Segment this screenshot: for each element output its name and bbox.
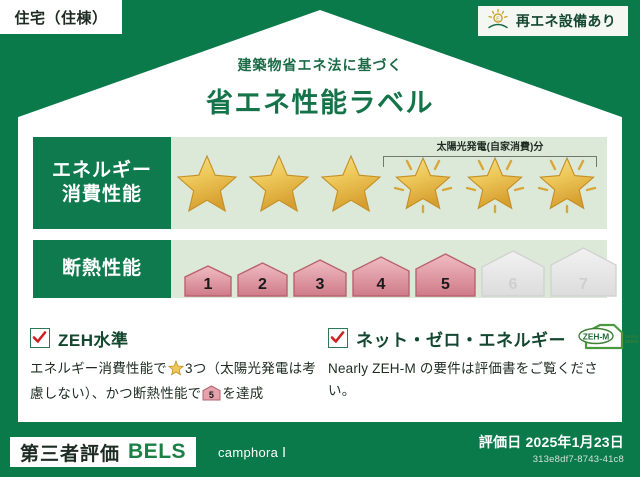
energy-performance-label-box: エネルギー 消費性能	[33, 137, 171, 229]
insulation-grade-2-value: 2	[258, 276, 267, 298]
solar-bracket-annotation: 太陽光発電(自家消費)分	[379, 139, 601, 169]
insulation-grade-6: 6	[480, 249, 546, 298]
svg-text:ZEH-M: ZEH-M	[625, 339, 638, 344]
insulation-grade-2: 2	[236, 261, 289, 298]
insulation-grade-5-value: 5	[441, 276, 450, 298]
insulation-performance-row: 断熱性能 1	[33, 240, 607, 298]
insulation-grade-1: 1	[183, 264, 233, 298]
insulation-label: 断熱性能	[62, 257, 142, 281]
insulation-grade-7-value: 7	[579, 276, 588, 298]
insulation-grade-track: 1 2 3 4	[183, 240, 618, 303]
third-party-evaluation-label: 第三者評価	[20, 439, 120, 466]
energy-label-line1: エネルギー	[52, 159, 152, 183]
housing-type-tab: 住宅（住棟）	[0, 0, 122, 34]
energy-performance-label: 住宅（住棟） E 再エネ設備あり 建築物省エネ法に基づく 省エネ性能ラベル	[0, 0, 640, 477]
insulation-grade-3: 3	[292, 258, 348, 298]
star-item	[243, 137, 315, 229]
net-zero-energy-header: ネット・ゼロ・エネルギー ZEH-M Nearly ZEH-M	[328, 325, 618, 351]
solar-bracket-line	[383, 156, 597, 167]
bels-brand: BELS	[128, 440, 186, 464]
svg-text:ZEH-M: ZEH-M	[583, 331, 610, 341]
zeh-desc-part1: エネルギー消費性能で	[30, 361, 167, 376]
title-main: 省エネ性能ラベル	[0, 81, 640, 120]
building-name: camphora Ⅰ	[218, 445, 286, 461]
insulation-grade-5: 5	[414, 252, 477, 298]
house-grade-5-icon: 5	[202, 385, 221, 408]
title-subtitle: 建築物省エネ法に基づく	[0, 55, 640, 75]
insulation-grade-3-value: 3	[316, 276, 325, 298]
evaluation-id: 313e8df7-8743-41c8	[479, 454, 624, 465]
bels-certification-badge: 第三者評価 BELS	[10, 437, 196, 467]
solar-bracket-label: 太陽光発電(自家消費)分	[379, 138, 601, 153]
insulation-grade-4-value: 4	[377, 276, 386, 298]
energy-star-panel: 太陽光発電(自家消費)分	[171, 137, 607, 229]
insulation-grade-panel: 1 2 3 4	[171, 240, 607, 298]
sun-icon: E	[486, 8, 510, 35]
label-title-block: 建築物省エネ法に基づく 省エネ性能ラベル	[0, 55, 640, 120]
zeh-desc-part3: を達成	[222, 386, 263, 401]
energy-performance-row: エネルギー 消費性能	[33, 137, 607, 229]
renewable-energy-label: 再エネ設備あり	[516, 11, 616, 31]
evaluation-meta: 評価日 2025年1月23日 313e8df7-8743-41c8	[479, 432, 624, 465]
zeh-standard-title: ZEH水準	[58, 326, 129, 351]
evaluation-date: 評価日 2025年1月23日	[479, 432, 624, 452]
zeh-standard-header: ZEH水準	[30, 325, 320, 351]
svg-text:E: E	[496, 16, 500, 22]
net-zero-energy-title: ネット・ゼロ・エネルギー	[356, 326, 566, 351]
net-zero-energy-section: ネット・ゼロ・エネルギー ZEH-M Nearly ZEH-M Nearly Z…	[328, 325, 618, 403]
insulation-performance-label-box: 断熱性能	[33, 240, 171, 298]
housing-type-label: 住宅（住棟）	[14, 7, 107, 28]
insulation-grade-4: 4	[351, 255, 411, 298]
star-item	[315, 137, 387, 229]
star-icon	[168, 360, 184, 383]
energy-label-line2: 消費性能	[62, 183, 142, 207]
insulation-grade-1-value: 1	[204, 276, 213, 298]
net-zero-energy-description: Nearly ZEH-M の要件は評価書をご覧ください。	[328, 358, 618, 403]
renewable-energy-badge: E 再エネ設備あり	[478, 6, 628, 36]
zeh-standard-section: ZEH水準 エネルギー消費性能で3つ（太陽光発電は考慮しない）、かつ断熱性能で5…	[30, 325, 320, 409]
svg-text:5: 5	[209, 390, 214, 400]
insulation-grade-7: 7	[549, 246, 618, 298]
zeh-m-logo: ZEH-M Nearly ZEH-M	[576, 321, 638, 356]
star-item	[171, 137, 243, 229]
insulation-grade-6-value: 6	[509, 276, 518, 298]
zeh-standard-checkbox[interactable]	[30, 328, 50, 348]
net-zero-energy-checkbox[interactable]	[328, 328, 348, 348]
zeh-standard-description: エネルギー消費性能で3つ（太陽光発電は考慮しない）、かつ断熱性能で5を達成	[30, 358, 320, 409]
